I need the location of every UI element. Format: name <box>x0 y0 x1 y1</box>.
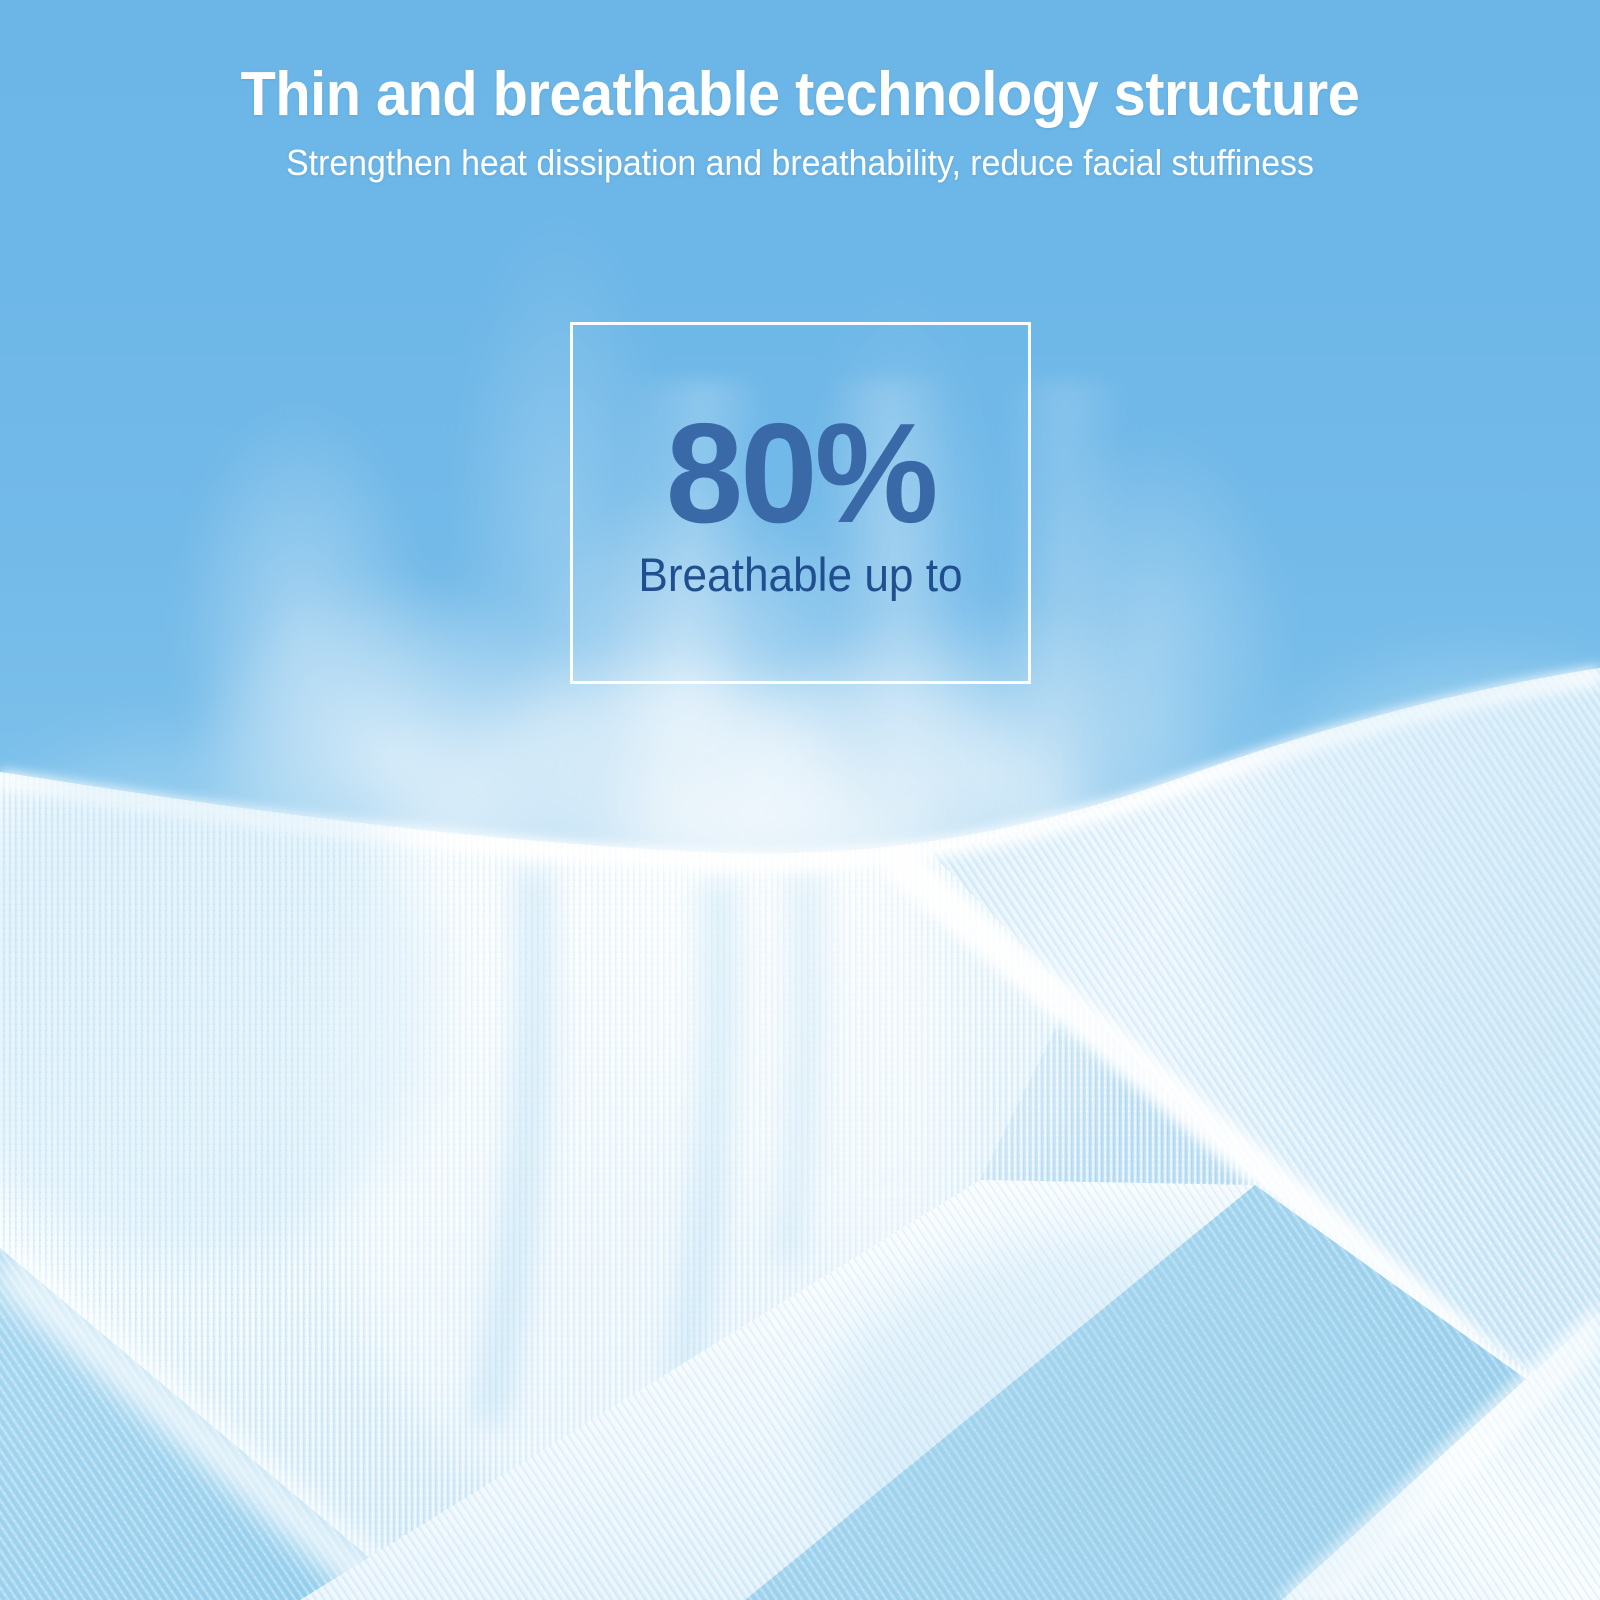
breathability-badge: 80% Breathable up to <box>570 322 1031 684</box>
page-title: Thin and breathable technology structure <box>56 62 1544 127</box>
page-subtitle: Strengthen heat dissipation and breathab… <box>48 143 1552 183</box>
badge-percentage-value: 80% <box>666 403 936 545</box>
product-feature-banner: Thin and breathable technology structure… <box>0 0 1600 1600</box>
banner-header: Thin and breathable technology structure… <box>0 62 1600 183</box>
badge-caption-label: Breathable up to <box>638 551 962 598</box>
fabric-illustration <box>0 0 1600 1600</box>
